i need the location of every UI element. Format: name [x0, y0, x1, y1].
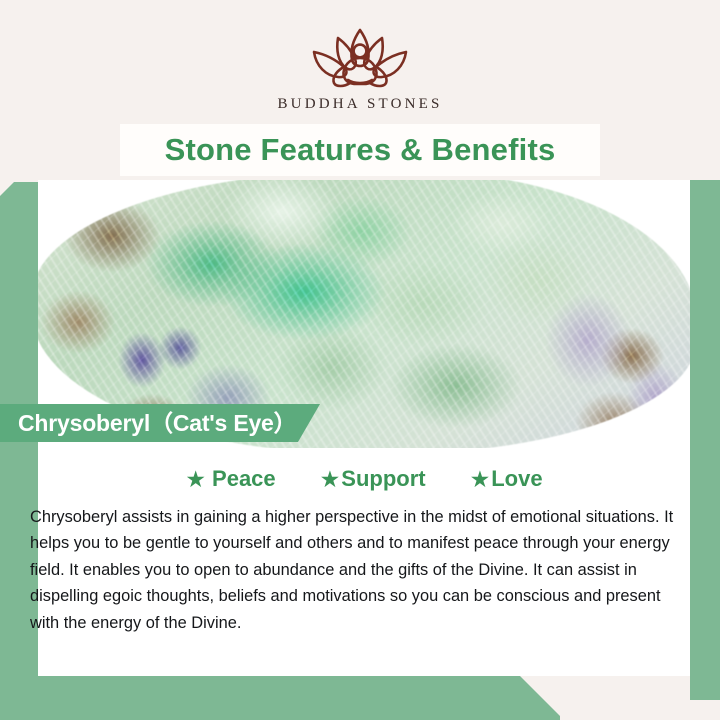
star-icon: ★ — [320, 468, 341, 491]
lotus-meditation-figure-icon — [276, 22, 444, 94]
brand-logo: BUDDHA STONES — [0, 22, 720, 113]
header: BUDDHA STONES Stone Features & Benefits — [0, 0, 720, 180]
benefit-item: ★ Love — [470, 466, 543, 492]
stone-name-label: Chrysoberyl（Cat's Eye） — [18, 404, 296, 442]
stone-description: Chrysoberyl assists in gaining a higher … — [30, 504, 690, 636]
frame-bottom-bar — [0, 676, 560, 720]
benefit-label: Peace — [212, 466, 276, 492]
star-icon: ★ — [185, 468, 206, 491]
stone-info-card: Chrysoberyl（Cat's Eye） ★ Peace ★ Support… — [0, 0, 720, 720]
benefit-item: ★ Support — [320, 466, 426, 492]
benefit-label: Support — [341, 466, 425, 492]
page-title: Stone Features & Benefits — [0, 125, 720, 175]
benefits-row: ★ Peace ★ Support ★ Love — [38, 462, 690, 496]
benefit-label: Love — [491, 466, 542, 492]
star-icon: ★ — [470, 468, 491, 491]
benefit-item: ★ Peace — [185, 466, 275, 492]
frame-right-bar — [690, 172, 720, 700]
brand-name: BUDDHA STONES — [0, 96, 720, 113]
